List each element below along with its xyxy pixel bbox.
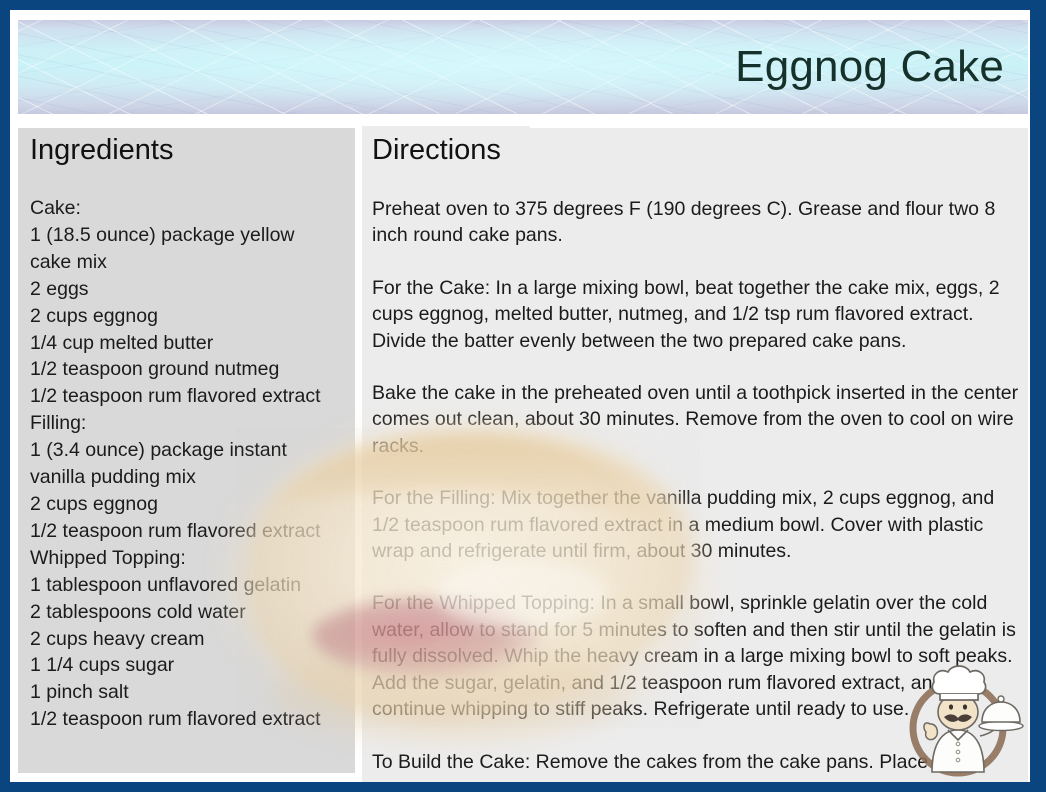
ingredient-line: 1/2 teaspoon rum flavored extract — [30, 706, 350, 733]
ingredient-line: 2 cups eggnog — [30, 491, 350, 518]
ingredient-line: Whipped Topping: — [30, 545, 350, 572]
ingredient-line: 2 tablespoons cold water — [30, 599, 350, 626]
header-banner: Eggnog Cake — [18, 20, 1028, 114]
ingredients-heading: Ingredients — [30, 136, 174, 165]
ingredient-line: 1/2 teaspoon rum flavored extract — [30, 518, 350, 545]
ingredient-line: 1/4 cup melted butter — [30, 330, 350, 357]
bottom-frame-edge — [0, 782, 1046, 792]
direction-paragraph: Bake the cake in the preheated oven unti… — [372, 380, 1022, 459]
direction-paragraph: For the Cake: In a large mixing bowl, be… — [372, 275, 1022, 354]
ingredient-line: 1 tablespoon unflavored gelatin — [30, 572, 350, 599]
recipe-card: Eggnog Cake Ingredients Cake:1 (18.5 oun… — [0, 0, 1046, 792]
direction-paragraph: For the Whipped Topping: In a small bowl… — [372, 590, 1022, 722]
ingredient-line: vanilla pudding mix — [30, 464, 350, 491]
directions-text: Preheat oven to 375 degrees F (190 degre… — [372, 196, 1022, 775]
page-title: Eggnog Cake — [735, 45, 1004, 89]
ingredient-line: 2 cups eggnog — [30, 303, 350, 330]
directions-heading: Directions — [372, 136, 501, 165]
direction-paragraph: Preheat oven to 375 degrees F (190 degre… — [372, 196, 1022, 249]
ingredient-line: Filling: — [30, 410, 350, 437]
ingredient-line: 2 eggs — [30, 276, 350, 303]
page-surface: Eggnog Cake Ingredients Cake:1 (18.5 oun… — [10, 10, 1030, 782]
ingredient-line: Cake: — [30, 195, 350, 222]
ingredients-list: Cake:1 (18.5 ounce) package yellowcake m… — [30, 195, 350, 733]
ingredient-line: 1 pinch salt — [30, 679, 350, 706]
ingredient-line: 1 (3.4 ounce) package instant — [30, 437, 350, 464]
ingredient-line: 1 1/4 cups sugar — [30, 652, 350, 679]
direction-paragraph: For the Filling: Mix together the vanill… — [372, 485, 1022, 564]
ingredient-line: 1 (18.5 ounce) package yellow — [30, 222, 350, 249]
ingredient-line: cake mix — [30, 249, 350, 276]
direction-paragraph: To Build the Cake: Remove the cakes from… — [372, 749, 1022, 775]
ingredient-line: 2 cups heavy cream — [30, 626, 350, 653]
ingredient-line: 1/2 teaspoon rum flavored extract — [30, 383, 350, 410]
ingredient-line: 1/2 teaspoon ground nutmeg — [30, 356, 350, 383]
